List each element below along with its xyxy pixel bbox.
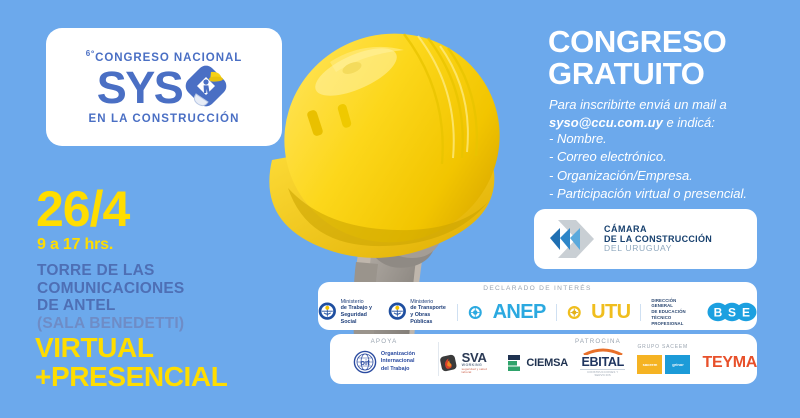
ccu-text: CÁMARA DE LA CONSTRUCCIÓN DEL URUGUAY: [604, 224, 712, 254]
ebital-logo: EBITAL CONSTRUCCIONES Y SERVICIOS: [580, 348, 626, 377]
svg-text:B: B: [714, 306, 723, 320]
sva-flame-icon: [439, 353, 458, 373]
headline-line-1: CONGRESO: [548, 26, 726, 58]
patrocina-label: PATROCINA: [439, 338, 757, 345]
ministry-line-2: de Trabajo y: [341, 305, 378, 312]
list-item: - Nombre.: [549, 130, 747, 148]
ministry-line-3: y Obras Públicas: [410, 312, 447, 326]
dgetp-line-1: DIRECCIÓN GENERAL: [651, 298, 697, 310]
syso-wordmark-row: SYS: [97, 64, 232, 110]
utu-logo: UTU: [591, 301, 630, 324]
syso-logo-card: 6ºCONGRESO NACIONAL SYS EN LA CONSTRUCCI…: [46, 28, 282, 146]
signup-prefix: Para inscribirte enviá un mail a: [549, 96, 727, 114]
dgetp-text: DIRECCIÓN GENERAL DE EDUCACIÓN TÉCNICO P…: [651, 298, 697, 327]
logo-bottom-line: EN LA CONSTRUCCIÓN: [89, 113, 240, 125]
teyma-logo: TEYMA: [702, 354, 757, 372]
saceem-brand-name: saceem: [637, 361, 662, 368]
ministerio-transporte-logo: Ministerio de Transporte y Obras Pública…: [388, 299, 448, 326]
logo-edition-number: 6º: [86, 49, 95, 58]
svg-text:oit: oit: [360, 358, 370, 367]
ministerio-trabajo-logo: Ministerio de Trabajo y Seguridad Social: [318, 299, 378, 326]
ciemsa-bars-icon: [507, 354, 522, 372]
grinor-brand: grinor: [665, 355, 690, 374]
declarado-logos-row: Ministerio de Trabajo y Seguridad Social…: [318, 294, 757, 330]
divider: [556, 304, 557, 321]
svg-text:E: E: [742, 306, 750, 320]
ciemsa-name: CIEMSA: [526, 357, 568, 369]
promo-banner: 6ºCONGRESO NACIONAL SYS EN LA CONSTRUCCI…: [0, 0, 800, 418]
signup-suffix: e indicá:: [663, 115, 715, 130]
apoya-section: APOYA oit Organización Internacional del…: [330, 334, 438, 384]
ebital-name: EBITAL: [580, 355, 626, 369]
venue-line-2: COMUNICACIONES: [37, 280, 184, 298]
signup-second-line: syso@ccu.com.uy e indicá:: [549, 114, 727, 132]
grinor-brand-name: grinor: [665, 361, 690, 368]
ccu-line-3: DEL URUGUAY: [604, 244, 712, 254]
ciemsa-logo: CIEMSA: [507, 354, 568, 372]
ccu-chevron-icon: [546, 218, 596, 260]
grinor-bar-bottom: [665, 368, 690, 374]
sva-logo: SVA WORKING seguridad y salud laboral: [439, 351, 495, 373]
event-hours: 9 a 17 hrs.: [37, 236, 113, 254]
signup-instructions: Para inscribirte enviá un mail a syso@cc…: [549, 96, 727, 131]
bse-logo: B S E: [707, 302, 757, 322]
venue-line-1: TORRE DE LAS: [37, 262, 184, 280]
list-item: - Participación virtual o presencial.: [549, 185, 747, 203]
sva-sub2: seguridad y salud laboral: [462, 368, 496, 374]
ministerio-transporte-text: Ministerio de Transporte y Obras Pública…: [410, 299, 447, 326]
headline-line-2: GRATUITO: [548, 58, 726, 90]
venue-hall: (SALA BENEDETTI): [37, 315, 184, 333]
ministerio-trabajo-text: Ministerio de Trabajo y Seguridad Social: [341, 299, 378, 326]
ministry-line-1: Ministerio: [341, 299, 378, 306]
oit-globe-icon: oit: [353, 350, 377, 374]
apoya-label: APOYA: [330, 338, 438, 345]
event-date: 26/4: [36, 186, 129, 232]
oit-logo: oit Organización Internacional del Traba…: [353, 350, 415, 374]
signup-email[interactable]: syso@ccu.com.uy: [549, 115, 663, 130]
ministry-line-1: Ministerio: [410, 299, 447, 306]
page-title: CONGRESO GRATUITO: [548, 26, 726, 89]
ccu-line-1: CÁMARA: [604, 224, 712, 234]
saceem-brands: saceem grinor: [637, 355, 690, 374]
camara-construccion-card: CÁMARA DE LA CONSTRUCCIÓN DEL URUGUAY: [534, 209, 757, 269]
ebital-sub: CONSTRUCCIONES Y SERVICIOS: [580, 369, 626, 377]
syso-wordmark: SYS: [97, 65, 183, 110]
list-item: - Organización/Empresa.: [549, 167, 747, 185]
modality-line-1: VIRTUAL: [35, 334, 227, 363]
ebital-arc-icon: [581, 348, 625, 355]
apoya-patrocina-card: APOYA oit Organización Internacional del…: [330, 334, 757, 384]
utu-emblem-icon: [567, 304, 582, 321]
oit-line-1: Organización: [381, 351, 415, 358]
svg-text:S: S: [728, 306, 736, 320]
oit-line-2: Internacional: [381, 358, 415, 365]
declarado-interes-card: DECLARADO DE INTERÉS Ministerio de Traba…: [318, 282, 757, 330]
syso-diamond-hardhat-icon: [183, 63, 231, 111]
sva-text: SVA WORKING seguridad y salud laboral: [462, 351, 496, 373]
event-modality: VIRTUAL +PRESENCIAL: [35, 334, 227, 391]
venue-line-3: DE ANTEL: [37, 297, 184, 315]
declarado-title: DECLARADO DE INTERÉS: [318, 285, 757, 292]
saceem-bar-bottom: [637, 368, 662, 374]
signup-fields-list: - Nombre. - Correo electrónico. - Organi…: [549, 130, 747, 204]
ministry-line-2: de Transporte: [410, 305, 447, 312]
patrocina-section: PATROCINA SVA WORKING seguridad y salud …: [439, 334, 757, 384]
oit-line-3: del Trabajo: [381, 366, 415, 373]
coat-of-arms-uruguay-icon: [318, 300, 337, 324]
divider: [640, 304, 641, 321]
anep-logo: ANEP: [493, 301, 546, 324]
event-venue: TORRE DE LAS COMUNICACIONES DE ANTEL (SA…: [37, 262, 184, 332]
dgetp-line-3: TÉCNICO PROFESIONAL: [651, 315, 697, 327]
grupo-saceem-logo: GRUPO SACEEM saceem grinor: [637, 352, 690, 374]
modality-line-2: +PRESENCIAL: [35, 363, 227, 392]
list-item: - Correo electrónico.: [549, 148, 747, 166]
oit-text: Organización Internacional del Trabajo: [381, 351, 415, 372]
saceem-group-label: GRUPO SACEEM: [637, 344, 687, 350]
coat-of-arms-uruguay-icon: [388, 300, 407, 324]
saceem-brand: saceem: [637, 355, 662, 374]
ministry-line-3: Seguridad Social: [341, 312, 378, 326]
divider: [457, 304, 458, 321]
anep-globe-icon: [468, 304, 483, 321]
